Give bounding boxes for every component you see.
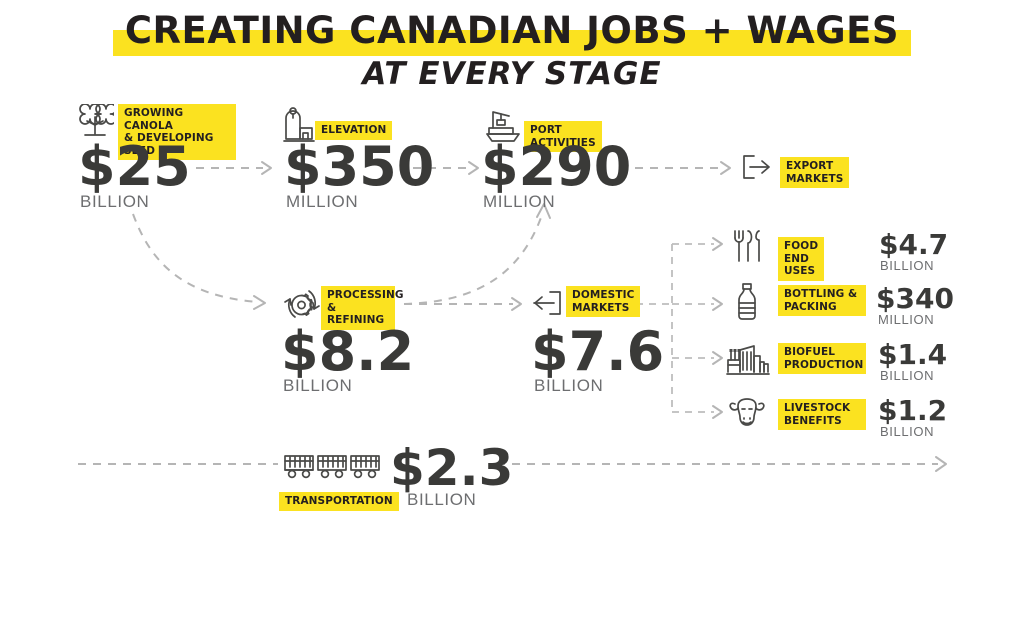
tag-end-use: BIOFUEL PRODUCTION — [778, 343, 866, 374]
amount-end-use: $340 — [876, 285, 954, 313]
amount-port-activities: $290 — [481, 140, 631, 194]
unit-port-activities: MILLION — [483, 192, 555, 212]
page-title: CREATING CANADIAN JOBS + WAGES — [0, 12, 1024, 49]
amount-end-use: $4.7 — [879, 231, 948, 259]
amount-processing-refining: $8.2 — [281, 325, 414, 379]
page-subtitle: AT EVERY STAGE — [0, 56, 1024, 92]
canola-plant-icon — [76, 104, 114, 138]
amount-growing-canola: $25 — [78, 140, 191, 194]
cutlery-icon — [730, 228, 764, 264]
unit-end-use: MILLION — [878, 312, 934, 327]
connector-lines — [0, 0, 1024, 617]
unit-elevation: MILLION — [286, 192, 358, 212]
bottle-icon — [730, 282, 764, 322]
unit-domestic-markets: BILLION — [534, 376, 603, 396]
amount-end-use: $1.2 — [878, 397, 947, 425]
amount-domestic-markets: $7.6 — [531, 325, 664, 379]
rail-cars-icon — [283, 448, 381, 484]
unit-transportation: BILLION — [407, 490, 476, 510]
unit-processing-refining: BILLION — [283, 376, 352, 396]
import-arrow-icon — [530, 288, 564, 318]
cow-head-icon — [728, 396, 768, 430]
unit-end-use: BILLION — [880, 258, 934, 273]
tag-end-use: FOOD END USES — [778, 237, 824, 281]
tag-domestic-markets: DOMESTIC MARKETS — [566, 286, 640, 317]
export-arrow-icon — [740, 152, 774, 182]
tag-end-use: BOTTLING & PACKING — [778, 285, 866, 316]
factory-icon — [726, 340, 770, 376]
tag-export-markets: EXPORT MARKETS — [780, 157, 849, 188]
unit-growing-canola: BILLION — [80, 192, 149, 212]
amount-elevation: $350 — [284, 140, 434, 194]
unit-end-use: BILLION — [880, 424, 934, 439]
infographic-canvas: CREATING CANADIAN JOBS + WAGES AT EVERY … — [0, 0, 1024, 617]
tag-end-use: LIVESTOCK BENEFITS — [778, 399, 866, 430]
gear-cycle-icon — [283, 285, 321, 323]
amount-end-use: $1.4 — [878, 341, 947, 369]
tag-transportation: TRANSPORTATION — [279, 492, 399, 511]
title-text: CREATING CANADIAN JOBS + WAGES — [125, 12, 899, 49]
unit-end-use: BILLION — [880, 368, 934, 383]
amount-transportation: $2.3 — [390, 443, 513, 493]
